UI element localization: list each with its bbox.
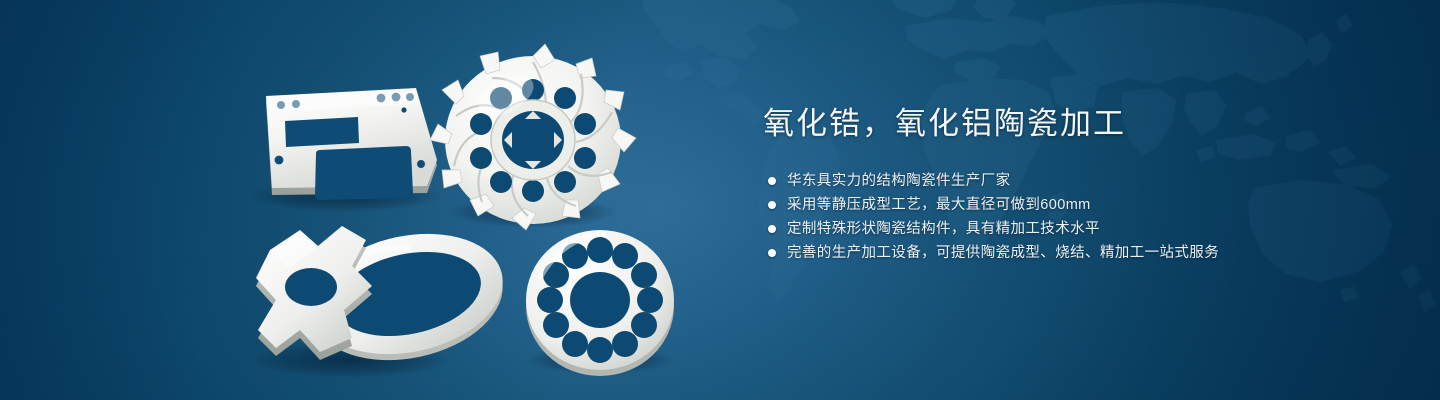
ceramic-plate-part [266,88,437,200]
ceramic-impeller-part [430,44,636,230]
hero-banner: 氧化锆，氧化铝陶瓷加工 华东具实力的结构陶瓷件生产厂家 采用等静压成型工艺，最大… [0,0,1440,400]
list-item-label: 完善的生产加工设备，可提供陶瓷成型、烧结、精加工一站式服务 [787,241,1219,265]
ceramic-perforated-disc-part [526,230,674,376]
bullet-dot-icon [768,201,776,209]
bullet-dot-icon [768,177,776,185]
bullet-dot-icon [768,249,776,257]
banner-copy: 氧化锆，氧化铝陶瓷加工 华东具实力的结构陶瓷件生产厂家 采用等静压成型工艺，最大… [763,104,1403,265]
list-item: 采用等静压成型工艺，最大直径可做到600mm [768,193,1403,217]
list-item: 华东具实力的结构陶瓷件生产厂家 [768,169,1403,193]
feature-list: 华东具实力的结构陶瓷件生产厂家 采用等静压成型工艺，最大直径可做到600mm 定… [763,169,1403,265]
bullet-dot-icon [768,225,776,233]
list-item-label: 定制特殊形状陶瓷结构件，具有精加工技术水平 [787,217,1100,241]
list-item: 定制特殊形状陶瓷结构件，具有精加工技术水平 [768,217,1403,241]
product-photo-collage [0,0,740,400]
list-item: 完善的生产加工设备，可提供陶瓷成型、烧结、精加工一站式服务 [768,241,1403,265]
list-item-label: 华东具实力的结构陶瓷件生产厂家 [787,169,1011,193]
page-title: 氧化锆，氧化铝陶瓷加工 [763,104,1403,144]
list-item-label: 采用等静压成型工艺，最大直径可做到600mm [787,193,1091,217]
